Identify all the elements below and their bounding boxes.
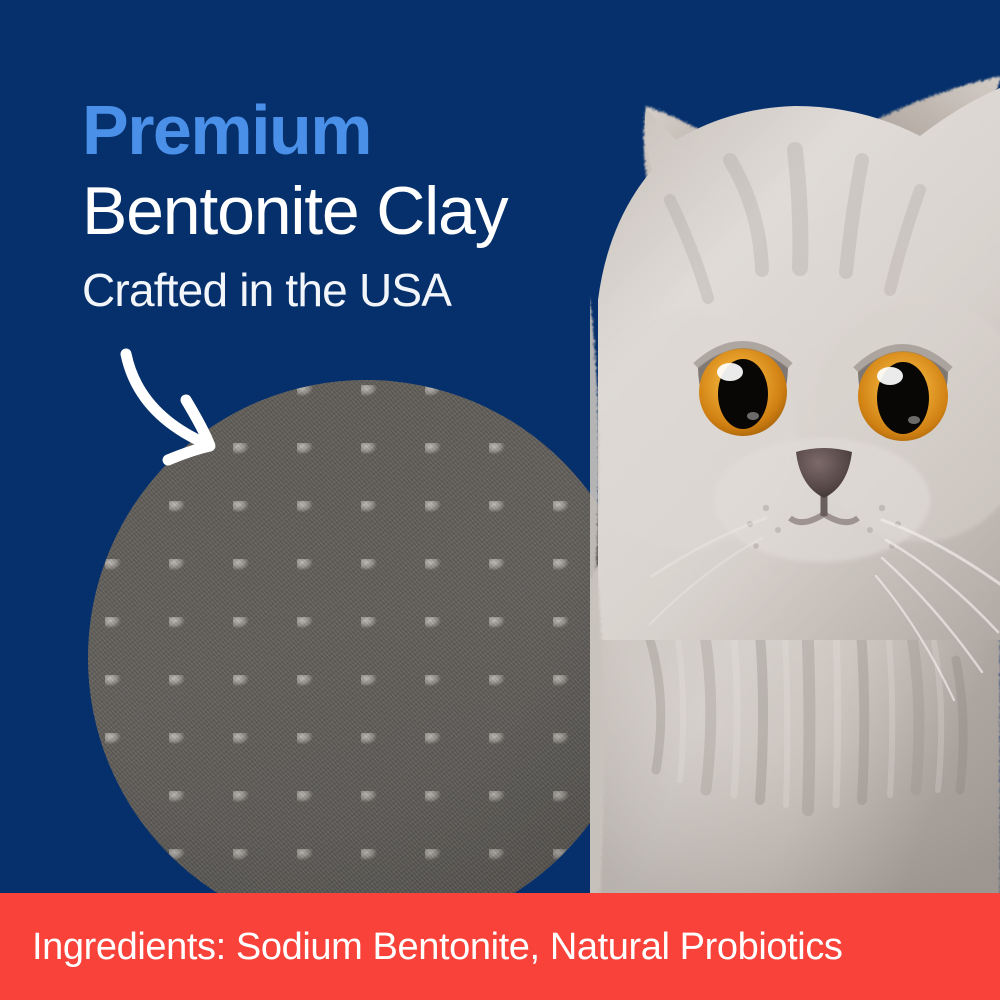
cat-photo bbox=[590, 0, 1000, 900]
headline-subtitle: Crafted in the USA bbox=[82, 266, 642, 314]
product-infographic: Premium Bentonite Clay Crafted in the US… bbox=[0, 0, 1000, 1000]
ingredients-banner: Ingredients: Sodium Bentonite, Natural P… bbox=[0, 893, 1000, 1000]
headline-title: Bentonite Clay bbox=[82, 177, 642, 246]
headline-eyebrow: Premium bbox=[82, 96, 642, 165]
ingredients-text: Ingredients: Sodium Bentonite, Natural P… bbox=[0, 928, 843, 966]
curved-arrow-icon bbox=[108, 338, 278, 478]
cat-illustration bbox=[590, 0, 1000, 900]
headline-block: Premium Bentonite Clay Crafted in the US… bbox=[82, 96, 642, 314]
